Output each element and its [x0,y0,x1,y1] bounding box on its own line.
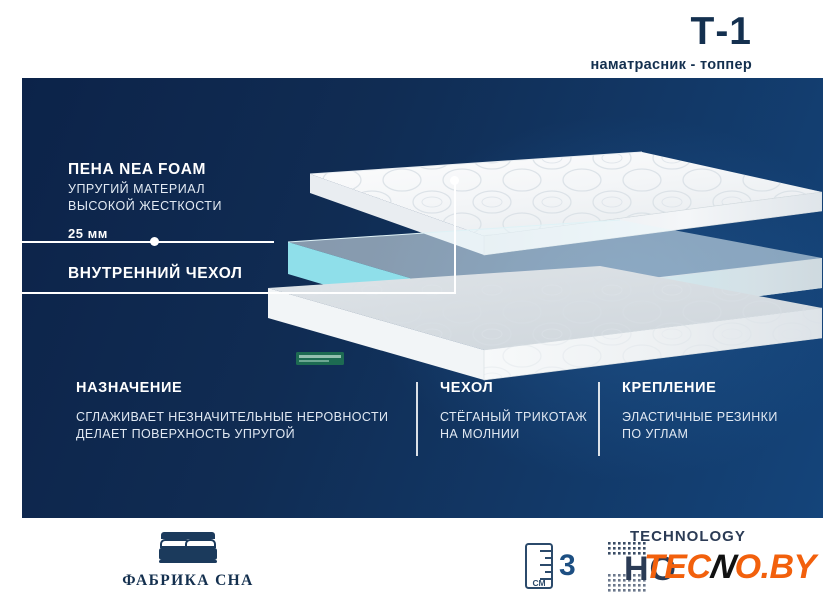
callout-foam-line1: УПРУГИЙ МАТЕРИАЛ [68,182,222,196]
page-title: Т-1 [590,12,752,51]
title-block: Т-1 наматрасник - топпер [590,12,752,73]
leader-line-foam [22,241,274,243]
brand-logo: ФАБРИКА СНА [88,530,288,590]
feature-purpose-title: НАЗНАЧЕНИЕ [76,380,416,396]
height-value: 3 [559,551,576,581]
brand-tag-icon [296,352,344,365]
leader-line-inner-cover [22,292,454,294]
feature-fastening-line1: ЭЛАСТИЧНЫЕ РЕЗИНКИ [622,409,788,426]
page-subtitle: наматрасник - топпер [590,57,752,73]
feature-purpose: НАЗНАЧЕНИЕ СГЛАЖИВАЕТ НЕЗНАЧИТЕЛЬНЫЕ НЕР… [76,380,416,472]
leader-dot-foam [150,237,159,246]
callout-foam: ПЕНА NEA FOAM УПРУГИЙ МАТЕРИАЛ ВЫСОКОЙ Ж… [68,161,222,241]
features-row: НАЗНАЧЕНИЕ СГЛАЖИВАЕТ НЕЗНАЧИТЕЛЬНЫЕ НЕР… [76,380,788,472]
technology-logo-word-top: TECHNOLOGY [630,528,746,545]
leader-dot-inner-cover [450,176,459,185]
ruler-icon: СМ [524,542,554,590]
callout-foam-line2: ВЫСОКОЙ ЖЕСТКОСТИ [68,199,222,213]
height-badge: СМ 3 [524,542,576,590]
feature-fastening-title: КРЕПЛЕНИЕ [622,380,788,396]
watermark-tecno-by: TECNO.BY [644,548,816,587]
feature-purpose-line1: СГЛАЖИВАЕТ НЕЗНАЧИТЕЛЬНЫЕ НЕРОВНОСТИ [76,409,416,426]
bed-icon [152,530,224,568]
product-infographic: Т-1 наматрасник - топпер [0,0,840,614]
mattress-illustration [222,136,822,396]
header: Т-1 наматрасник - топпер [0,0,840,78]
callout-inner-cover-title: ВНУТРЕННИЙ ЧЕХОЛ [68,265,242,283]
feature-cover-title: ЧЕХОЛ [440,380,598,396]
callout-foam-title: ПЕНА NEA FOAM [68,161,222,179]
brand-name: ФАБРИКА СНА [88,572,288,590]
callout-foam-thickness: 25 мм [68,226,222,241]
feature-cover-line2: НА МОЛНИИ [440,426,598,443]
feature-fastening-line2: ПО УГЛАМ [622,426,788,443]
ruler-unit-label: СМ [532,578,545,588]
main-panel: ПЕНА NEA FOAM УПРУГИЙ МАТЕРИАЛ ВЫСОКОЙ Ж… [22,78,823,518]
feature-cover-line1: СТЁГАНЫЙ ТРИКОТАЖ [440,409,598,426]
feature-fastening: КРЕПЛЕНИЕ ЭЛАСТИЧНЫЕ РЕЗИНКИ ПО УГЛАМ [598,380,788,472]
leader-line-inner-cover-vertical [454,180,456,294]
feature-divider-1 [416,382,418,456]
watermark-part2: O.BY [735,548,816,586]
feature-cover: ЧЕХОЛ СТЁГАНЫЙ ТРИКОТАЖ НА МОЛНИИ [416,380,598,472]
watermark-part1: TEC [644,548,711,586]
feature-divider-2 [598,382,600,456]
feature-purpose-line2: ДЕЛАЕТ ПОВЕРХНОСТЬ УПРУГОЙ [76,426,416,443]
